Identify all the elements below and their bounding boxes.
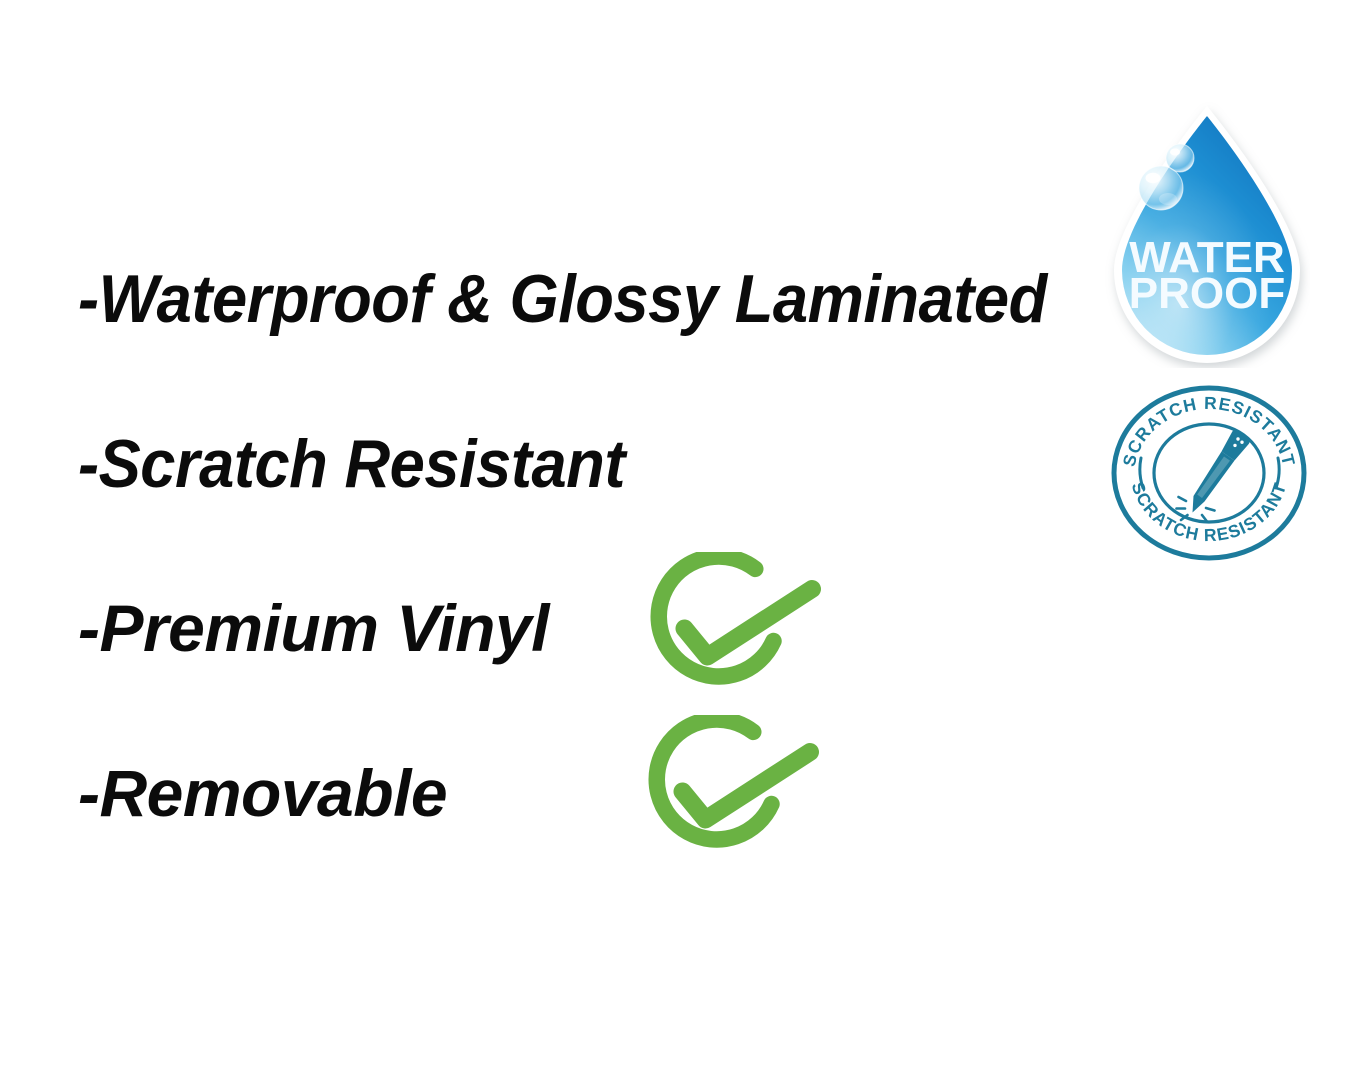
feature-text-scratch-resistant: -Scratch Resistant <box>78 430 625 498</box>
feature-text-waterproof-glossy-laminated: -Waterproof & Glossy Laminated <box>78 265 1047 333</box>
check-tick <box>685 589 813 657</box>
scratch-resistant-stamp-badge: SCRATCH RESISTANT SCRATCH RESISTANT <box>1108 384 1310 562</box>
waterproof-droplet-badge: WATER PROOF <box>1104 100 1310 368</box>
knife-icon <box>1177 430 1250 522</box>
feature-text-premium-vinyl: -Premium Vinyl <box>78 595 549 661</box>
check-tick <box>683 752 811 820</box>
waterproof-label-line2: PROOF <box>1129 269 1285 318</box>
check-icon-removable <box>643 715 843 880</box>
check-icon-premium-vinyl <box>645 552 845 717</box>
feature-list-graphic: -Waterproof & Glossy Laminated -Scratch … <box>0 0 1359 1080</box>
water-bubble-large <box>1139 166 1183 210</box>
badge-text-top: SCRATCH RESISTANT <box>1119 393 1299 469</box>
feature-text-removable: -Removable <box>78 760 447 826</box>
